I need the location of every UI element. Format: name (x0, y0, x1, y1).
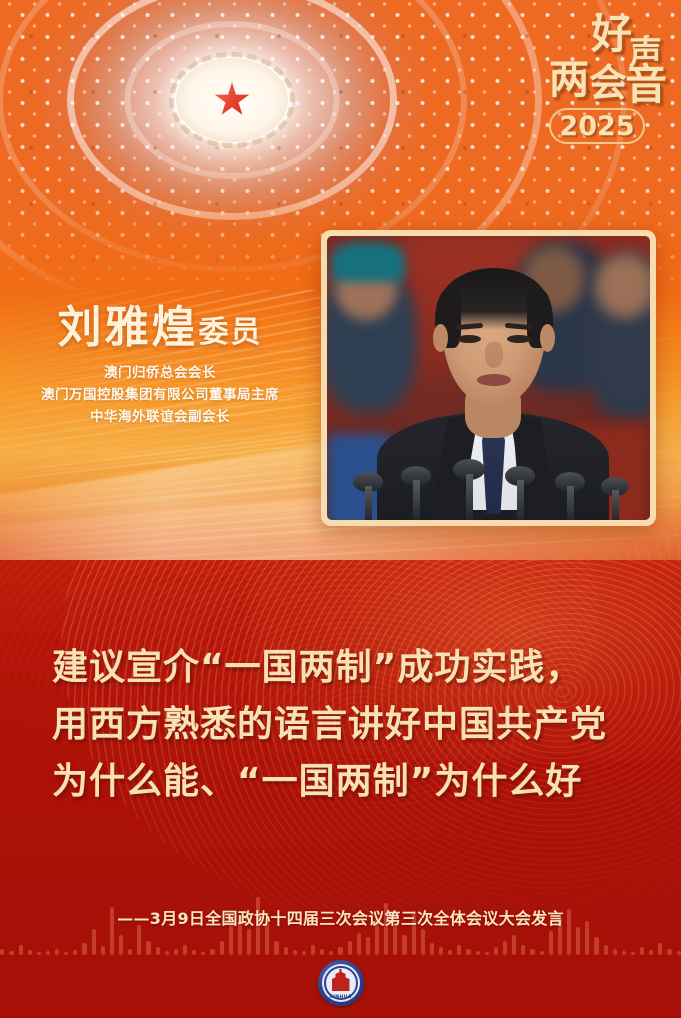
soundwave-bar (604, 945, 608, 955)
soundwave-bar (393, 925, 397, 955)
photo-bg-person-left-hat (331, 242, 405, 282)
subject-eye-right (507, 335, 531, 343)
soundwave-bar (503, 941, 507, 955)
soundwave-bar (540, 951, 544, 955)
soundwave-bar (311, 945, 315, 955)
soundwave-bar (366, 937, 370, 955)
poster-root: 好 声 两 会 音 2025 (0, 0, 681, 1018)
person-titles: 澳门归侨总会会长 澳门万国控股集团有限公司董事局主席 中华海外联谊会副会长 (0, 363, 320, 429)
quote-line-2: 用西方熟悉的语言讲好中国共产党 (52, 697, 681, 754)
photo-bg-person-right-head (595, 254, 650, 318)
soundwave-bar (82, 943, 86, 955)
soundwave-bar (201, 952, 205, 955)
brand-char-liang: 两 (549, 60, 589, 100)
soundwave-bar (128, 949, 132, 955)
soundwave-bar (192, 950, 196, 955)
subject-ear-left (433, 324, 448, 352)
soundwave-bar (73, 950, 77, 955)
soundwave-bar (9, 951, 13, 955)
soundwave-bar (530, 949, 534, 955)
soundwave-bar (320, 949, 324, 955)
soundwave-bar (421, 929, 425, 955)
soundwave-bar (247, 929, 251, 955)
soundwave-bar (220, 941, 224, 955)
subject-nose (485, 342, 503, 368)
soundwave-bar (64, 952, 68, 955)
soundwave-bar (28, 950, 32, 955)
microphone-stem (517, 480, 524, 520)
person-title-1: 澳门归侨总会会长 (0, 363, 320, 385)
person-role-text: 委员 (199, 315, 263, 350)
subject-eye-left (457, 335, 481, 343)
year-badge: 2025 (549, 108, 645, 144)
microphone-stem (365, 486, 372, 520)
soundwave-bar (402, 935, 406, 955)
soundwave-bar (146, 941, 150, 955)
soundwave-bar (0, 949, 4, 955)
brand-logo: 好 声 两 会 音 2025 (545, 12, 673, 152)
brand-char-hui: 会 (589, 64, 627, 102)
caption: ——3月9日全国政协十四届三次会议第三次全体会议大会发言 (0, 905, 681, 929)
brand-char-hao: 好 (591, 14, 632, 55)
soundwave-bar (448, 950, 452, 955)
portrait-frame (321, 230, 656, 526)
soundwave-bar (622, 951, 626, 955)
brand-char-yin: 音 (625, 64, 667, 106)
soundwave-bar (137, 925, 141, 955)
soundwave-bar (338, 947, 342, 955)
soundwave-bar (476, 951, 480, 955)
year-badge-label: 2025 (559, 111, 634, 142)
soundwave-bar (640, 947, 644, 955)
soundwave-bar (430, 943, 434, 955)
soundwave-bar (156, 947, 160, 955)
subject-mouth (477, 374, 511, 386)
soundwave-bar (485, 952, 489, 955)
soundwave-bar (576, 927, 580, 955)
person-title-3: 中华海外联谊会副会长 (0, 407, 320, 429)
soundwave-bar (521, 945, 525, 955)
soundwave-bar (494, 947, 498, 955)
quote-line-1: 建议宣介“一国两制”成功实践， (52, 640, 681, 697)
soundwave-bar (658, 943, 662, 955)
soundwave-bar (457, 945, 461, 955)
soundwave-bar (348, 941, 352, 955)
soundwave-bar (549, 931, 553, 955)
soundwave-bar (46, 951, 50, 955)
soundwave-bar (37, 952, 41, 955)
soundwave-bar (677, 951, 681, 955)
soundwave-bar (512, 935, 516, 955)
soundwave-bar (649, 950, 653, 955)
subject-ear-right (540, 324, 555, 352)
microphone-stem (612, 490, 619, 520)
person-name-text: 刘雅煌 (58, 302, 199, 353)
portrait-photo (327, 236, 650, 520)
caption-text: ——3月9日全国政协十四届三次会议第三次全体会议大会发言 (117, 909, 564, 928)
person-name: 刘雅煌委员 (0, 305, 320, 351)
soundwave-bar (55, 949, 59, 955)
soundwave-bar (183, 945, 187, 955)
soundwave-bar (466, 949, 470, 955)
xinhua-logo: XINHUA (318, 960, 364, 1006)
soundwave-bar (210, 949, 214, 955)
soundwave-bar (594, 937, 598, 955)
soundwave-bar (439, 947, 443, 955)
microphone-stem (466, 474, 473, 520)
soundwave-bar (329, 951, 333, 955)
soundwave-bar (274, 941, 278, 955)
soundwave-bar (293, 950, 297, 955)
soundwave-bar (667, 949, 671, 955)
soundwave-bar (165, 951, 169, 955)
soundwave-bar (92, 929, 96, 955)
soundwave-bar (357, 933, 361, 955)
microphone-stem (567, 486, 574, 520)
quote-block: 建议宣介“一国两制”成功实践， 用西方熟悉的语言讲好中国共产党 为什么能、“一国… (0, 640, 681, 811)
person-title-2: 澳门万国控股集团有限公司董事局主席 (0, 385, 320, 407)
soundwave-bar (19, 945, 23, 955)
quote-line-3: 为什么能、“一国两制”为什么好 (52, 754, 681, 811)
soundwave-bar (631, 952, 635, 955)
soundwave-bar (284, 947, 288, 955)
soundwave-bar (174, 949, 178, 955)
xinhua-wordmark: XINHUA (318, 995, 364, 1000)
soundwave-bar (302, 951, 306, 955)
soundwave-bar (119, 935, 123, 955)
soundwave-bar (101, 946, 105, 955)
person-info-block: 刘雅煌委员 澳门归侨总会会长 澳门万国控股集团有限公司董事局主席 中华海外联谊会… (0, 305, 320, 429)
soundwave-bar (613, 949, 617, 955)
microphone-stem (413, 480, 420, 520)
